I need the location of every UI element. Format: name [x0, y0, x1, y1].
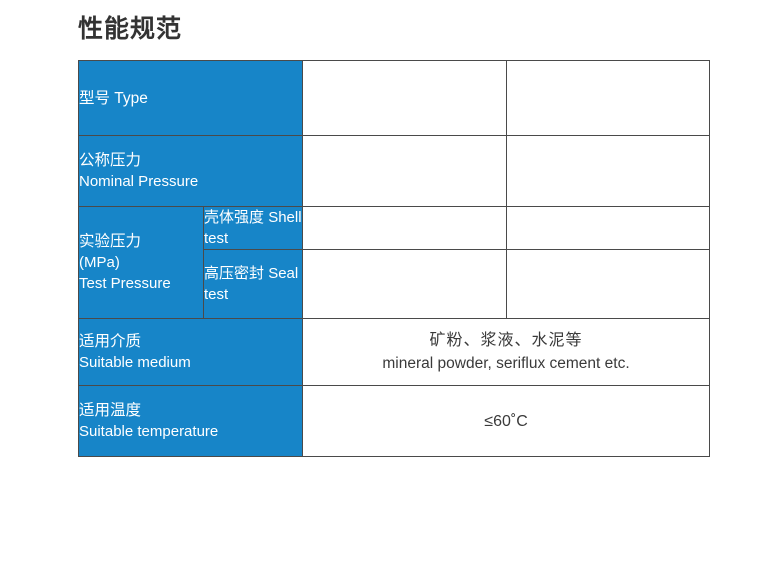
row-type-value-2[interactable]: [507, 61, 710, 136]
row-label-suitable-medium-cn: 适用介质: [79, 331, 302, 352]
table-row-suitable-temperature: 适用温度 Suitable temperature ≤60˚C: [79, 386, 710, 457]
row-label-nominal-pressure-cn: 公称压力: [79, 150, 302, 171]
row-suitable-medium-value-cn: 矿粉、浆液、水泥等: [303, 329, 709, 352]
row-seal-test-value-2[interactable]: [507, 250, 710, 319]
row-sublabel-shell-test: 壳体强度 Shell test: [204, 207, 303, 250]
row-suitable-medium-value: 矿粉、浆液、水泥等 mineral powder, seriflux cemen…: [303, 319, 710, 386]
row-suitable-temperature-value: ≤60˚C: [303, 386, 710, 457]
row-sublabel-seal-test: 高压密封 Seal test: [204, 250, 303, 319]
row-label-test-pressure: 实验压力 (MPa) Test Pressure: [79, 207, 204, 319]
row-nominal-pressure-value-2[interactable]: [507, 136, 710, 207]
row-label-type: 型号 Type: [79, 61, 303, 136]
row-label-nominal-pressure: 公称压力 Nominal Pressure: [79, 136, 303, 207]
row-label-suitable-temperature: 适用温度 Suitable temperature: [79, 386, 303, 457]
row-label-type-text: 型号 Type: [79, 90, 148, 107]
table-row-test-pressure-shell: 实验压力 (MPa) Test Pressure 壳体强度 Shell test: [79, 207, 710, 250]
row-sublabel-shell-test-cn: 壳体强度: [204, 209, 264, 226]
row-label-test-pressure-cn: 实验压力: [79, 231, 203, 252]
row-label-test-pressure-en: Test Pressure: [79, 273, 203, 294]
row-label-suitable-medium-en: Suitable medium: [79, 352, 302, 373]
row-label-test-pressure-unit: (MPa): [79, 252, 203, 273]
row-label-suitable-medium: 适用介质 Suitable medium: [79, 319, 303, 386]
table-row-nominal-pressure: 公称压力 Nominal Pressure: [79, 136, 710, 207]
row-sublabel-seal-test-cn: 高压密封: [204, 265, 264, 282]
row-label-suitable-temperature-en: Suitable temperature: [79, 421, 302, 442]
row-label-suitable-temperature-cn: 适用温度: [79, 400, 302, 421]
row-label-nominal-pressure-en: Nominal Pressure: [79, 171, 302, 192]
table-row-type: 型号 Type: [79, 61, 710, 136]
table-row-suitable-medium: 适用介质 Suitable medium 矿粉、浆液、水泥等 mineral p…: [79, 319, 710, 386]
row-type-value-1[interactable]: [303, 61, 507, 136]
row-shell-test-value-2[interactable]: [507, 207, 710, 250]
row-nominal-pressure-value-1[interactable]: [303, 136, 507, 207]
page-title: 性能规范: [78, 12, 182, 46]
performance-specification-table: 型号 Type 公称压力 Nominal Pressure 实验压力 (MPa)…: [78, 60, 710, 457]
row-suitable-medium-value-en: mineral powder, seriflux cement etc.: [303, 352, 709, 375]
row-suitable-temperature-value-text: ≤60˚C: [484, 413, 527, 430]
row-shell-test-value-1[interactable]: [303, 207, 507, 250]
row-seal-test-value-1[interactable]: [303, 250, 507, 319]
